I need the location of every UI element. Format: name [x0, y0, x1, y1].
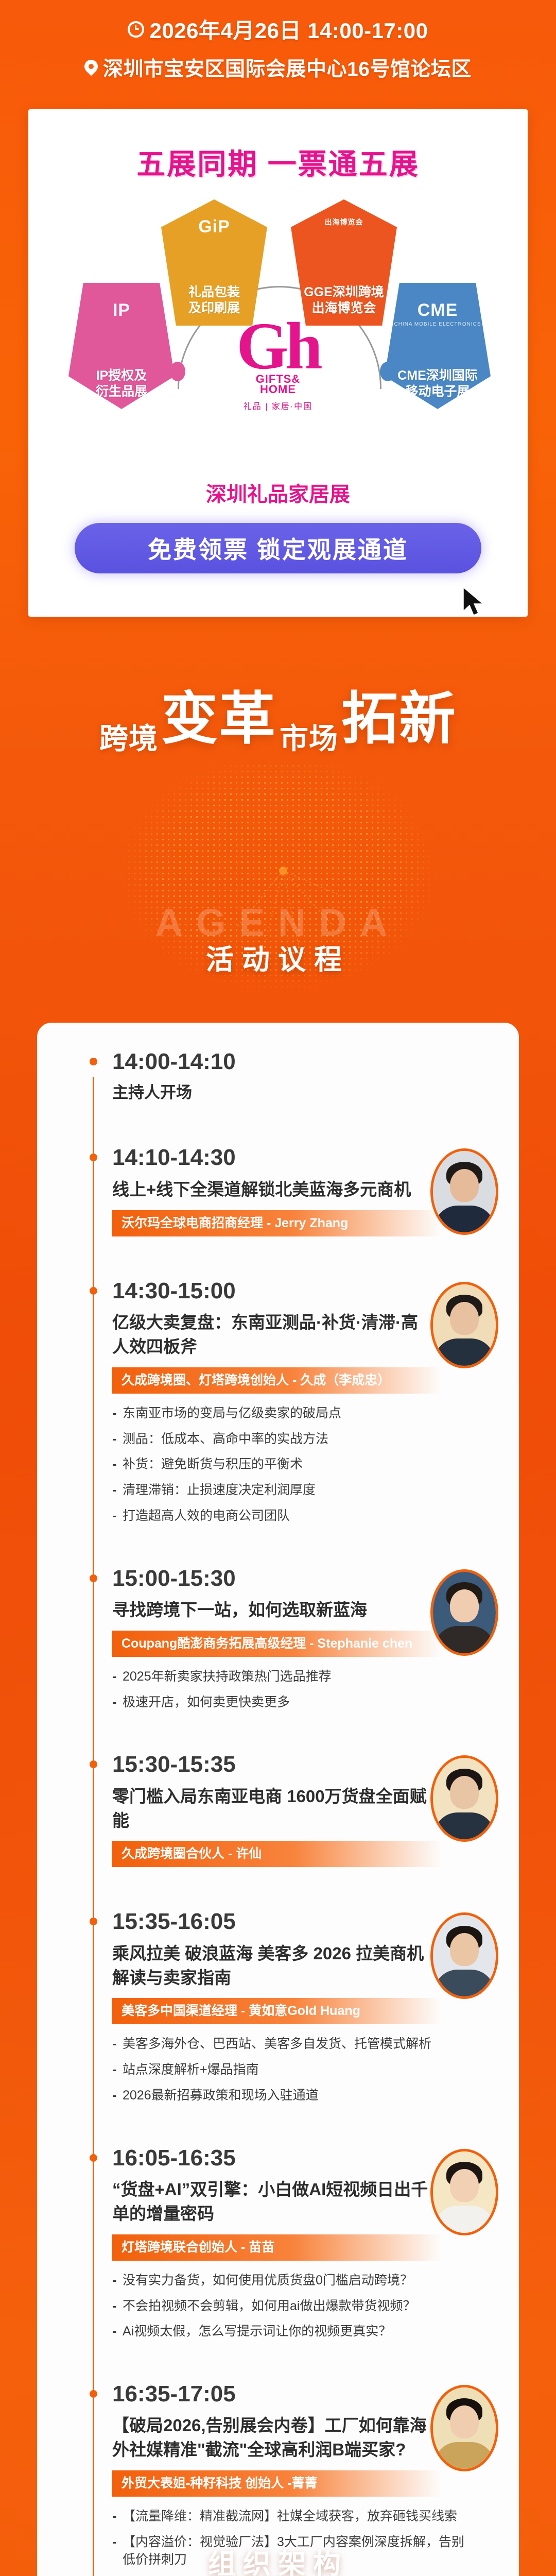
headline-word-4: 拓新 — [341, 672, 457, 755]
gifts-home-logo: Gh GIFTS& HOME 礼品 | 家居·中国 — [28, 317, 528, 412]
headline-word-2: 变革 — [161, 672, 276, 755]
agenda-slot: 14:00-14:10主持人开场 — [37, 1049, 519, 1136]
agenda-bullet-item: 东南亚市场的变局与亿级卖家的破局点 — [112, 1405, 467, 1422]
agenda-bullet-list: 2025年新卖家扶持政策热门选品推荐极速开店，如何卖更快卖更多 — [112, 1668, 495, 1711]
agenda-bullet-item: 2025年新卖家扶持政策热门选品推荐 — [112, 1668, 467, 1686]
agenda-bullet-item: 打造超高人效的电商公司团队 — [112, 1507, 467, 1525]
agenda-card: 14:00-14:10主持人开场14:10-14:30线上+线下全渠道解锁北美蓝… — [37, 1023, 519, 2576]
agenda-bullet-item: 测品：低成本、高命中率的实战方法 — [112, 1431, 467, 1448]
agenda-bullet-item: Ai视频太假，怎么写提示词让你的视频更真实？ — [112, 2323, 467, 2341]
agenda-speaker-badge: Coupang酷澎商务拓展高级经理 - Stephanie chen — [112, 1631, 442, 1657]
agenda-slot-title: 亿级大卖复盘：东南亚测品·补货·清滞·高人效四板斧 — [112, 1311, 431, 1359]
event-datetime-row: 2026年4月26日 14:00-17:00 — [0, 13, 556, 45]
org-en-title: ZUZHIJIAGOU — [0, 2503, 556, 2542]
agenda-slot-title: 线上+线下全渠道解锁北美蓝海多元商机 — [112, 1178, 431, 1202]
expo-pentagon-gge[interactable]: 出海博览会 GGE深圳跨境 出海博览会 — [291, 199, 397, 326]
agenda-bullet-item: 站点深度解析+爆品指南 — [112, 2061, 467, 2079]
gge-logo: 出海博览会 — [291, 217, 397, 227]
agenda-slot-list: 14:00-14:10主持人开场14:10-14:30线上+线下全渠道解锁北美蓝… — [37, 1049, 519, 2576]
agenda-bullet-list: 美客多海外仓、巴西站、美客多自发货、托管模式解析站点深度解析+爆品指南2026最… — [112, 2036, 495, 2104]
poster-header: 2026年4月26日 14:00-17:00 深圳市宝安区国际会展中心16号馆论… — [0, 0, 556, 82]
agenda-slot: 14:30-15:00亿级大卖复盘：东南亚测品·补货·清滞·高人效四板斧久成跨境… — [37, 1279, 519, 1557]
agenda-slot-spacer — [112, 2113, 495, 2137]
agenda-slot-title: 寻找跨境下一站，如何选取新蓝海 — [112, 1598, 431, 1622]
speaker-avatar — [430, 2385, 498, 2471]
event-location-row: 深圳市宝安区国际会展中心16号馆论坛区 — [0, 53, 556, 82]
agenda-slot: 15:30-15:35零门槛入局东南亚电商 1600万货盘全面赋能久成跨境圈合伙… — [37, 1752, 519, 1900]
agenda-cn-title: 活动议程 — [0, 937, 556, 977]
agenda-bullet-item: 清理滞销：止损速度决定利润厚度 — [112, 1482, 467, 1499]
location-pin-icon — [82, 57, 101, 76]
org-hero-banner: ZUZHIJIAGOU 组织架构 — [0, 2494, 556, 2576]
gift-label-line1: 礼品包装 — [188, 285, 240, 299]
expo-pentagon-gift-label: 礼品包装 及印刷展 — [188, 284, 240, 317]
agenda-bullet-item: 没有实力备货，如何使用优质货盘0门槛启动跨境？ — [112, 2272, 467, 2290]
agenda-speaker-badge: 久成跨境圈合伙人 - 许仙 — [112, 1841, 442, 1867]
agenda-speaker-badge: 久成跨境圈、灯塔跨境创始人 - 久成（李成忠） — [112, 1367, 442, 1394]
speaker-avatar — [430, 1569, 498, 1656]
event-poster: 2026年4月26日 14:00-17:00 深圳市宝安区国际会展中心16号馆论… — [0, 0, 556, 2576]
gh-cn-tagline: 礼品 | 家居·中国 — [28, 399, 528, 412]
agenda-speaker-badge: 灯塔跨境联合创始人 - 苗苗 — [112, 2234, 442, 2261]
agenda-speaker-badge: 美客多中国渠道经理 - 黄如意Gold Huang — [112, 1998, 442, 2024]
agenda-slot: 14:10-14:30线上+线下全渠道解锁北美蓝海多元商机沃尔玛全球电商招商经理… — [37, 1145, 519, 1269]
event-datetime: 2026年4月26日 14:00-17:00 — [149, 13, 428, 45]
expo-pentagon-diagram: GiP 礼品包装 及印刷展 出海博览会 GGE深圳跨境 出海博览会 IP IP授… — [28, 194, 528, 483]
agenda-slot-title: 【破局2026,告别展会内卷】工厂如何靠海外社媒精准"截流"全球高利润B端买家? — [112, 2414, 431, 2462]
gge-label-line2: 出海博览会 — [311, 301, 376, 315]
expo-overview-card: 五展同期 一票通五展 GiP 礼品包装 及印刷展 出海博览会 GGE深圳跨境 出… — [28, 109, 528, 617]
speaker-avatar — [430, 1912, 498, 1999]
gip-logo: GiP — [161, 217, 267, 237]
speaker-avatar — [430, 1755, 498, 1842]
speaker-avatar — [430, 1282, 498, 1368]
agenda-bullet-list: 东南亚市场的变局与亿级卖家的破局点测品：低成本、高命中率的实战方法补货：避免断货… — [112, 1405, 495, 1525]
agenda-slot-title: 主持人开场 — [112, 1081, 431, 1104]
agenda-slot: 15:00-15:30寻找跨境下一站，如何选取新蓝海Coupang酷澎商务拓展高… — [37, 1566, 519, 1743]
agenda-slot-spacer — [112, 2349, 495, 2372]
agenda-speaker-badge: 沃尔玛全球电商招商经理 - Jerry Zhang — [112, 1210, 442, 1236]
gh-monogram: Gh — [28, 317, 528, 376]
agenda-slot-title: 乘风拉美 破浪蓝海 美客多 2026 拉美商机解读与卖家指南 — [112, 1942, 431, 1990]
free-ticket-cta-button[interactable]: 免费领票 锁定观展通道 — [75, 523, 481, 573]
agenda-bullet-item: 补货：避免断货与积压的平衡术 — [112, 1456, 467, 1473]
agenda-bullet-item: 不会拍视频不会剪辑，如何用ai做出爆款带货视频？ — [112, 2298, 467, 2315]
agenda-slot-title: “货盘+AI”双引擎：小白做AI短视频日出千单的增量密码 — [112, 2178, 431, 2226]
expo-title: 五展同期 一票通五展 — [28, 141, 528, 183]
agenda-slot-spacer — [112, 1533, 495, 1557]
headline-word-3: 市场 — [280, 716, 338, 762]
agenda-slot-title: 零门槛入局东南亚电商 1600万货盘全面赋能 — [112, 1785, 431, 1833]
campaign-headline: 跨境 变革 市场 拓新 — [0, 665, 556, 762]
agenda-slot-spacer — [112, 1719, 495, 1743]
gge-label-line1: GGE深圳跨境 — [304, 285, 384, 299]
agenda-slot-time: 14:00-14:10 — [112, 1049, 495, 1074]
gift-label-line2: 及印刷展 — [188, 301, 240, 315]
speaker-avatar — [430, 2149, 498, 2235]
agenda-bullet-item: 2026最新招募政策和现场入驻通道 — [112, 2087, 467, 2105]
agenda-bullet-list: 没有实力备货，如何使用优质货盘0门槛启动跨境？不会拍视频不会剪辑，如何用ai做出… — [112, 2272, 495, 2341]
agenda-bullet-item: 美客多海外仓、巴西站、美客多自发货、托管模式解析 — [112, 2036, 467, 2053]
agenda-speaker-badge: 外贸大表姐-种籽科技 创始人 -菁菁 — [112, 2470, 442, 2497]
agenda-slot: 15:35-16:05乘风拉美 破浪蓝海 美客多 2026 拉美商机解读与卖家指… — [37, 1909, 519, 2136]
agenda-slot: 16:05-16:35“货盘+AI”双引擎：小白做AI短视频日出千单的增量密码灯… — [37, 2146, 519, 2372]
agenda-slot-spacer — [112, 1112, 495, 1136]
agenda-slot-spacer — [112, 1876, 495, 1900]
clock-icon — [128, 21, 144, 38]
agenda-hero-banner: AGENDA 活动议程 — [0, 762, 556, 1030]
event-location: 深圳市宝安区国际会展中心16号馆论坛区 — [103, 53, 472, 82]
agenda-bullet-item: 极速开店，如何卖更快卖更多 — [112, 1694, 467, 1711]
agenda-slot-spacer — [112, 1246, 495, 1269]
speaker-avatar — [430, 1148, 498, 1235]
org-cn-title: 组织架构 — [0, 2541, 556, 2576]
expo-pentagon-gift[interactable]: GiP 礼品包装 及印刷展 — [161, 199, 267, 326]
headline-word-1: 跨境 — [99, 716, 158, 762]
gh-en-line2: HOME — [28, 383, 528, 396]
